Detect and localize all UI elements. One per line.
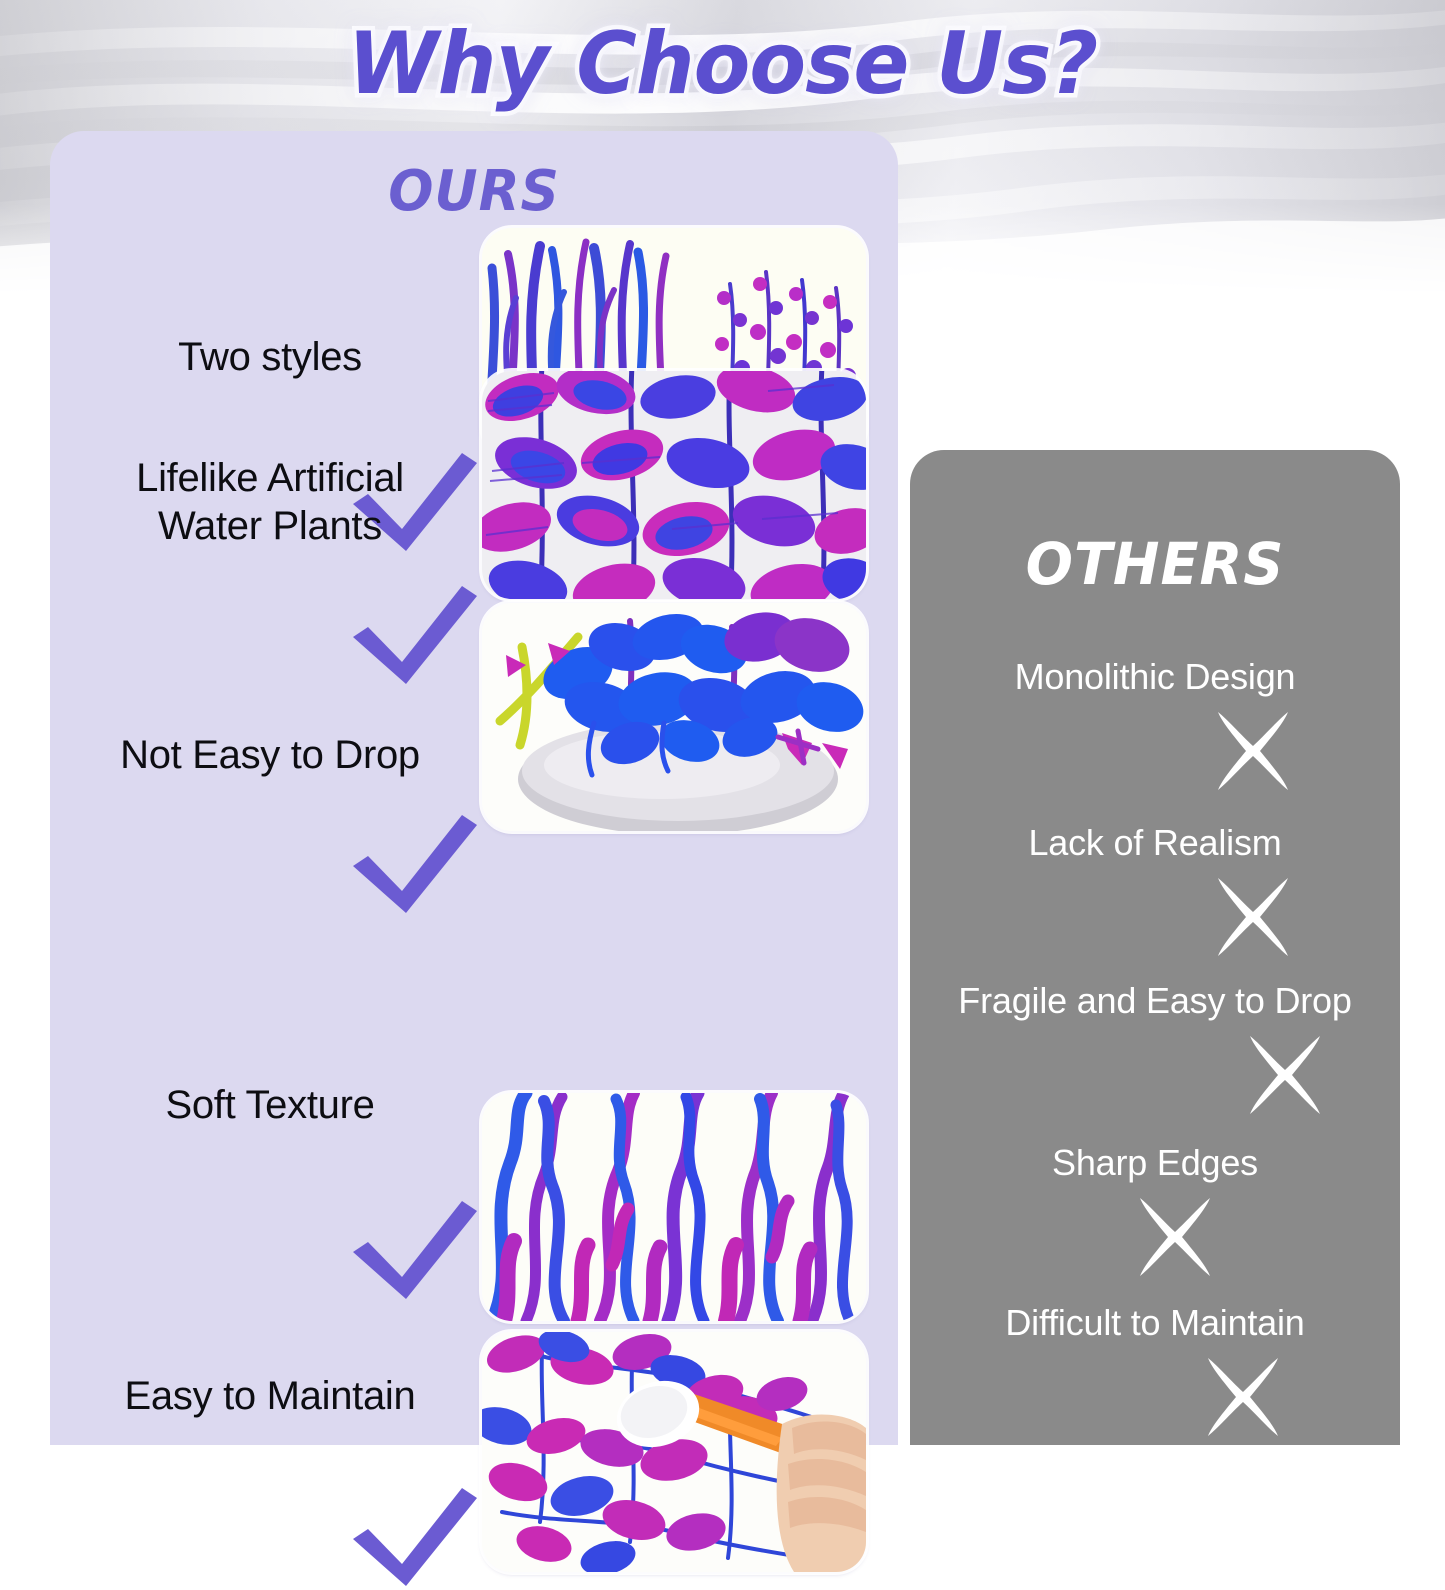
others-item-label: Difficult to Maintain [910, 1302, 1400, 1344]
others-item-label: Fragile and Easy to Drop [910, 980, 1400, 1022]
ours-item-label: Not Easy to Drop [72, 731, 468, 779]
ours-item-label: Two styles [72, 333, 468, 381]
check-icon [350, 1199, 480, 1303]
weighted-base-plant-photo [482, 603, 866, 831]
x-icon [1210, 708, 1296, 794]
ours-item-label: Easy to Maintain [72, 1372, 468, 1420]
others-panel: OTHERS Monolithic Design Lack of Realism… [910, 450, 1400, 1445]
others-item-label: Monolithic Design [910, 656, 1400, 698]
page-title: Why Choose Us? [29, 14, 1416, 114]
others-item-label: Lack of Realism [910, 822, 1400, 864]
check-icon [350, 813, 480, 917]
ours-panel: OURS Two styles [50, 131, 898, 1445]
ours-item-label: Lifelike Artificial Water Plants [72, 454, 468, 550]
ours-item-label: Soft Texture [72, 1081, 468, 1129]
check-icon [350, 584, 480, 688]
brush-cleaning-plant-photo [482, 1332, 866, 1572]
check-icon [350, 1486, 480, 1590]
x-icon [1210, 874, 1296, 960]
x-icon [1242, 1032, 1328, 1118]
ours-feature-list: Two styles [50, 131, 898, 1445]
others-feature-list: Monolithic Design Lack of Realism Fragil… [910, 450, 1400, 1445]
soft-ribbon-leaves-photo [482, 1093, 866, 1321]
lifelike-plants-photo [482, 371, 866, 599]
others-item-label: Sharp Edges [910, 1142, 1400, 1184]
x-icon [1200, 1354, 1286, 1440]
x-icon [1132, 1194, 1218, 1280]
